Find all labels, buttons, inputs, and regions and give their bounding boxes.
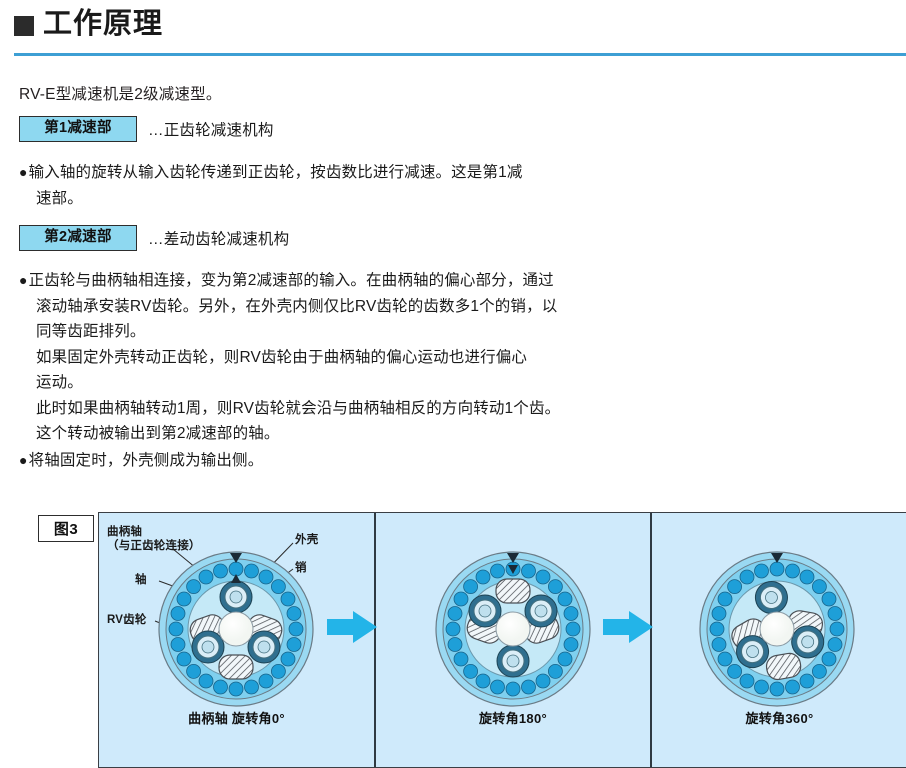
callout-rv-gear: RV齿轮 <box>107 613 147 627</box>
paragraph-2-line-5: 运动。 <box>19 370 779 396</box>
page-root: 工作原理 RV-E型减速机是2级减速型。 第1减速部 …正齿轮减速机构 ● 输入… <box>0 0 906 768</box>
section-2-desc: …差动齿轮减速机构 <box>148 227 289 249</box>
page-title: 工作原理 <box>14 10 892 39</box>
section-2-tag: 第2减速部 <box>19 225 137 251</box>
paragraph-3: ● 将轴固定时，外壳侧成为输出侧。 <box>19 448 739 474</box>
section-1-header: 第1减速部 …正齿轮减速机构 <box>19 116 274 142</box>
paragraph-2-line-7: 这个转动被输出到第2减速部的轴。 <box>19 421 779 447</box>
paragraph-3-line-1: 将轴固定时，外壳侧成为输出侧。 <box>29 448 739 474</box>
arrow-right-icon <box>603 609 655 645</box>
section-2-header: 第2减速部 …差动齿轮减速机构 <box>19 225 289 251</box>
section-1-tag: 第1减速部 <box>19 116 137 142</box>
bullet-icon: ● <box>19 448 28 474</box>
figure-label: 图3 <box>38 515 94 542</box>
panel-caption-1: 曲柄轴 旋转角0° <box>99 708 374 727</box>
paragraph-2-line-2: 滚动轴承安装RV齿轮。另外，在外壳内侧仅比RV齿轮的齿数多1个的销，以 <box>19 294 779 320</box>
black-square-icon <box>14 16 34 36</box>
paragraph-1-line-1: 输入轴的旋转从输入齿轮传递到正齿轮，按齿数比进行减速。这是第1减 <box>29 160 739 186</box>
paragraph-2-line-1: 正齿轮与曲柄轴相连接，变为第2减速部的输入。在曲柄轴的偏心部分，通过 <box>29 268 779 294</box>
reducer-diagram-360 <box>652 513 906 731</box>
bullet-icon: ● <box>19 268 28 294</box>
page-title-text: 工作原理 <box>43 10 163 39</box>
lead-text: RV-E型减速机是2级减速型。 <box>19 83 222 106</box>
callout-pin: 销 <box>295 561 307 575</box>
bullet-icon: ● <box>19 160 28 186</box>
panel-caption-3: 旋转角360° <box>652 708 906 727</box>
paragraph-2-line-3: 同等齿距排列。 <box>19 319 779 345</box>
callout-crank-shaft: 曲柄轴 （与正齿轮连接） <box>107 525 201 554</box>
callout-shaft: 轴 <box>135 573 147 587</box>
header-rule <box>14 53 906 56</box>
section-1-desc: …正齿轮减速机构 <box>148 118 274 140</box>
paragraph-1: ● 输入轴的旋转从输入齿轮传递到正齿轮，按齿数比进行减速。这是第1减 速部。 <box>19 160 739 211</box>
paragraph-2: ● 正齿轮与曲柄轴相连接，变为第2减速部的输入。在曲柄轴的偏心部分，通过 滚动轴… <box>19 268 779 447</box>
panel-caption-2: 旋转角180° <box>376 708 650 727</box>
arrow-right-icon <box>327 609 379 645</box>
figure-panel: 曲柄轴 （与正齿轮连接） 轴 RV齿轮 外壳 销 <box>98 512 906 768</box>
figure-3: 图3 曲柄轴 （与正齿轮连接） 轴 RV齿轮 外壳 销 <box>0 508 906 768</box>
page-header: 工作原理 <box>14 10 892 39</box>
paragraph-2-line-4: 如果固定外壳转动正齿轮，则RV齿轮由于曲柄轴的偏心运动也进行偏心 <box>19 345 779 371</box>
panel-cell-3: 旋转角360° <box>652 513 906 731</box>
paragraph-1-line-2: 速部。 <box>19 186 739 212</box>
callout-housing: 外壳 <box>295 533 318 547</box>
paragraph-2-line-6: 此时如果曲柄轴转动1周，则RV齿轮就会沿与曲柄轴相反的方向转动1个齿。 <box>19 396 779 422</box>
